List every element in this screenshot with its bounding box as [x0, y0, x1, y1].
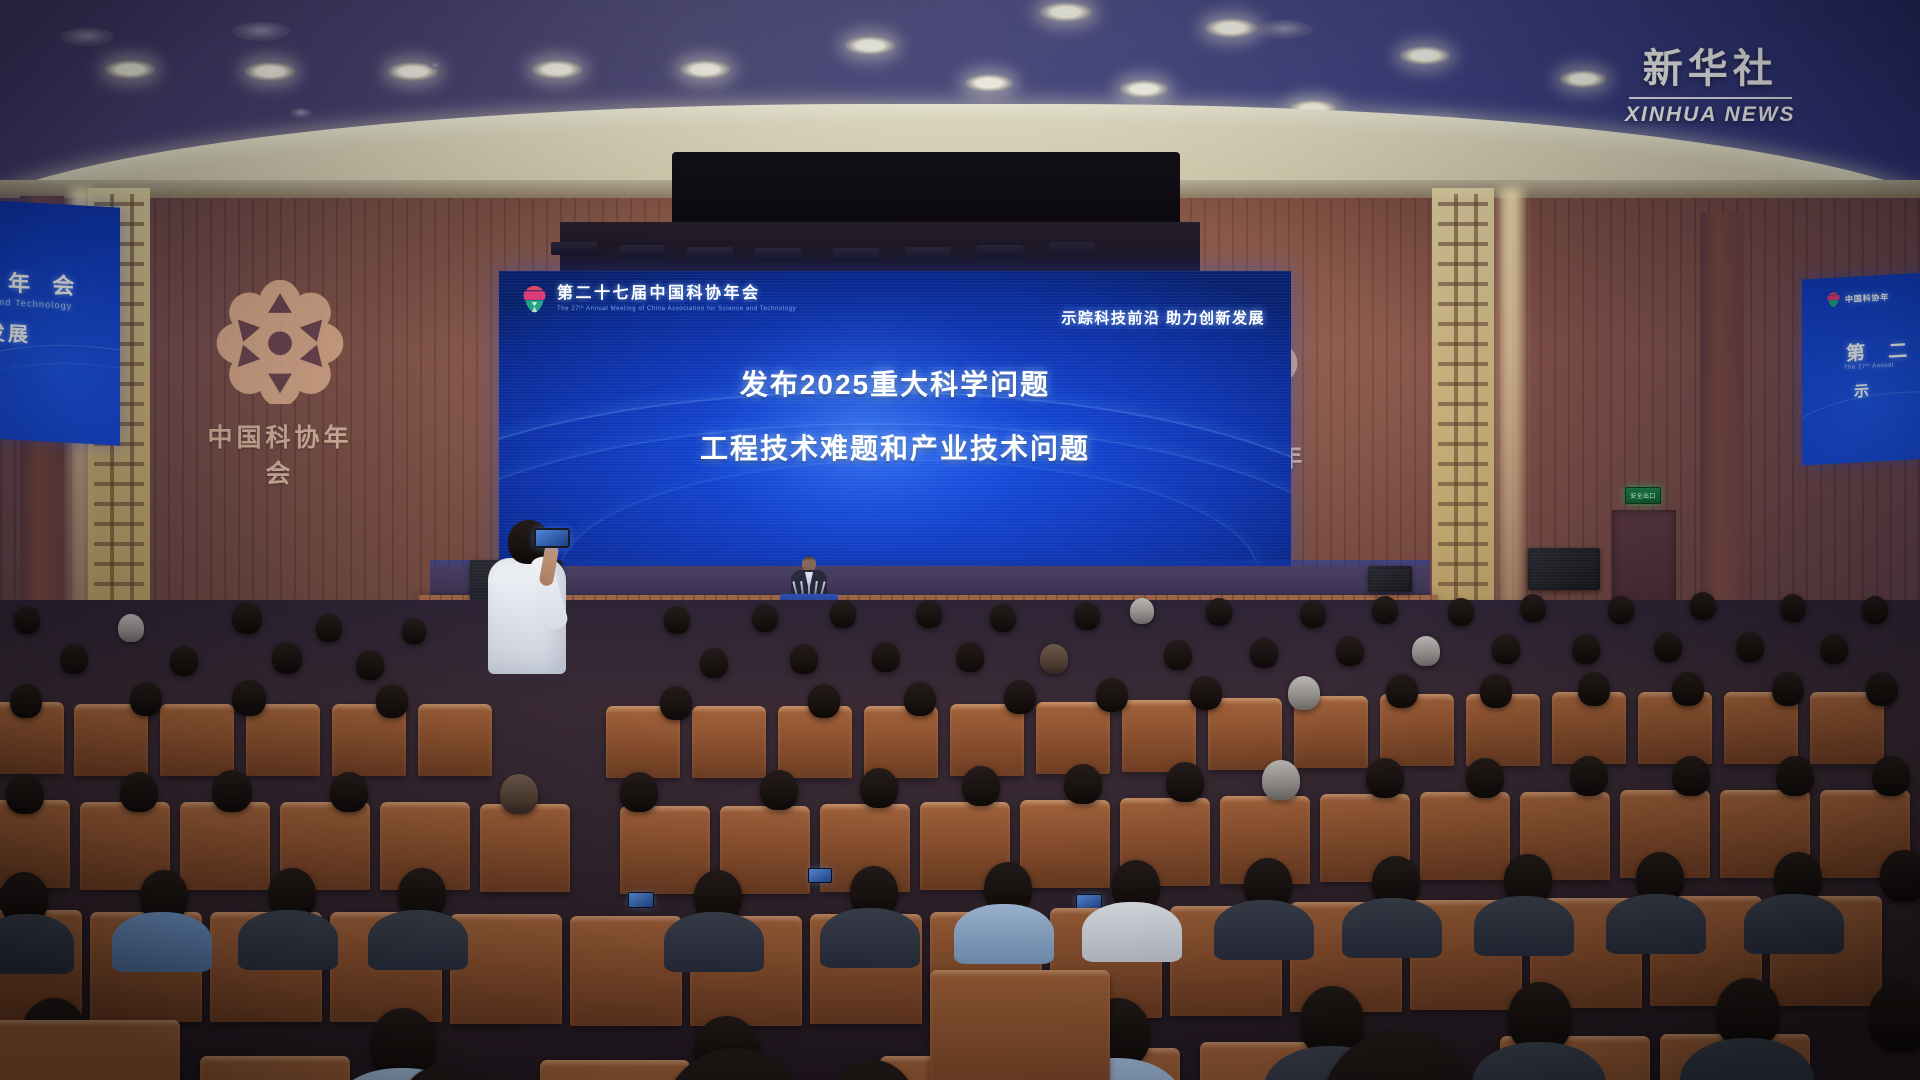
watermark-divider	[1629, 97, 1792, 99]
ceiling-light-10	[845, 36, 895, 55]
ceiling-light-3	[1400, 46, 1450, 65]
wall-pilaster-right	[1700, 212, 1744, 652]
stage-monitor-right	[1528, 548, 1600, 590]
audience-head	[1064, 764, 1102, 804]
theater-seat	[1020, 800, 1110, 888]
audience-head	[1690, 592, 1716, 620]
audience-head	[1608, 596, 1634, 624]
theater-seat	[74, 704, 148, 776]
ceiling-light-1	[1040, 2, 1092, 22]
audience-head	[376, 684, 408, 718]
raised-smartphone	[808, 868, 832, 883]
ceiling-light-5	[105, 60, 155, 79]
audience-head	[330, 772, 368, 812]
audience-head	[1868, 982, 1920, 1052]
audience-head	[1492, 634, 1520, 664]
right-side-led-screen[interactable]: 中国科协年 第 二 The 27ᵗʰ Annual 示	[1802, 272, 1920, 465]
audience-head	[10, 684, 42, 718]
audience-shoulders	[112, 912, 212, 972]
audience-head	[1206, 598, 1232, 626]
audience-head	[118, 614, 144, 642]
audience-head	[990, 604, 1016, 632]
audience-shoulders	[664, 912, 764, 972]
audience-head	[700, 648, 728, 678]
audience-head	[1130, 598, 1154, 624]
proscenium-dark-band	[672, 152, 1180, 230]
audience-head	[1872, 756, 1910, 796]
audience-head	[1672, 756, 1710, 796]
truss-fixture	[833, 248, 879, 261]
audience-shoulders	[1606, 894, 1706, 954]
audience-head	[232, 602, 262, 634]
audience-head	[1466, 758, 1504, 798]
audience-head	[1300, 600, 1326, 628]
audience-head	[808, 684, 840, 718]
audience-head	[120, 772, 158, 812]
stage-monitor-right-2	[1368, 566, 1412, 592]
screen-header-title-en: The 27ᵗʰ Annual Meeting of China Associa…	[557, 306, 796, 312]
screen-title-line-1: 发布2025重大科学问题	[499, 363, 1291, 403]
exit-sign: 安全出口	[1625, 487, 1661, 504]
theater-seat	[1208, 698, 1282, 770]
audience-head	[1040, 644, 1068, 674]
audience-head	[1862, 596, 1888, 624]
main-led-screen[interactable]: 第二十七届中国科协年会 The 27ᵗʰ Annual Meeting of C…	[499, 271, 1291, 569]
audience-head	[752, 604, 778, 632]
audience-head	[212, 770, 252, 812]
audience-head	[232, 680, 266, 716]
photographer-smartphone	[534, 528, 570, 548]
ceiling-light-8	[532, 60, 582, 79]
ceiling-light-dim-3	[1255, 20, 1313, 39]
audience-head	[760, 770, 798, 810]
theater-seat	[692, 706, 766, 778]
audience-head	[1288, 676, 1320, 710]
audience-head	[170, 646, 198, 676]
watermark-chinese-text: 新华社	[1625, 36, 1796, 94]
ceiling-light-dim-1	[60, 28, 114, 46]
truss-fixture	[687, 247, 733, 260]
left-screen-swoosh	[0, 356, 120, 445]
ceiling-light-11	[965, 74, 1013, 92]
audience-head	[1776, 756, 1814, 796]
audience-head	[500, 774, 538, 814]
screen-title-line-2: 工程技术难题和产业技术问题	[499, 427, 1291, 467]
audience-head	[1480, 674, 1512, 708]
raised-smartphone	[628, 892, 654, 908]
audience-head	[962, 766, 1000, 806]
audience-head	[1386, 674, 1418, 708]
audience-head	[1570, 756, 1608, 796]
ceiling-light-2	[1205, 18, 1257, 38]
theater-seat	[480, 804, 570, 892]
audience-head	[1250, 638, 1278, 668]
theater-seat	[1036, 702, 1110, 774]
cast-flower-logo-icon	[521, 285, 548, 314]
audience-head	[860, 768, 898, 808]
standing-photographer	[480, 520, 576, 690]
audience-head	[1520, 594, 1546, 622]
audience-head	[14, 606, 40, 634]
audience-head	[1654, 632, 1682, 662]
theater-seat	[950, 704, 1024, 776]
left-screen-line-1: 协 年 会	[0, 263, 82, 302]
audience-head	[402, 618, 426, 644]
screen-header-title-cn: 第二十七届中国科协年会	[557, 286, 796, 303]
truss-fixture	[755, 248, 801, 261]
watermark-english-text: XINHUA NEWS	[1625, 103, 1796, 127]
audience-head	[272, 642, 302, 674]
audience-head	[1780, 594, 1806, 622]
theater-seat	[418, 704, 492, 776]
theater-seat	[1638, 692, 1712, 764]
ceiling-light-6	[245, 62, 295, 81]
audience-head	[1736, 632, 1764, 662]
ceiling-light-dim-4	[290, 108, 312, 118]
audience-head	[1772, 672, 1804, 706]
theater-seat	[450, 914, 562, 1024]
theater-seat	[180, 802, 270, 890]
truss-fixture	[905, 247, 951, 260]
audience-head	[1412, 636, 1440, 666]
audience-head	[872, 642, 900, 672]
audience-head	[790, 644, 818, 674]
audience-head	[1578, 672, 1610, 706]
theater-seat	[620, 806, 710, 894]
audience-shoulders	[0, 914, 74, 974]
audience-shoulders	[1214, 900, 1314, 960]
audience-head	[356, 650, 384, 680]
audience-shoulders	[1342, 898, 1442, 958]
audience-head	[1074, 602, 1100, 630]
theater-seat	[160, 704, 234, 776]
theater-seat	[778, 706, 852, 778]
audience-head	[1190, 676, 1222, 710]
wall-emblem-left: 中国科协年会	[204, 272, 356, 490]
audience-head	[1164, 640, 1192, 670]
main-led-screen-surface: 第二十七届中国科协年会 The 27ᵗʰ Annual Meeting of C…	[499, 271, 1291, 569]
screen-header: 第二十七届中国科协年会 The 27ᵗʰ Annual Meeting of C…	[521, 285, 796, 314]
audience-shoulders	[1744, 894, 1844, 954]
audience-shoulders	[1082, 902, 1182, 962]
audience-head	[1262, 760, 1300, 800]
theater-seat	[864, 706, 938, 778]
audience-head	[1372, 596, 1398, 624]
screen-header-texts: 第二十七届中国科协年会 The 27ᵗʰ Annual Meeting of C…	[557, 286, 796, 312]
screen-main-title: 发布2025重大科学问题 工程技术难题和产业技术问题	[499, 363, 1291, 467]
audience-head	[1096, 678, 1128, 712]
audience-head	[1336, 636, 1364, 666]
audience-shoulders	[1474, 896, 1574, 956]
lighting-truss	[545, 230, 1125, 272]
left-side-led-screen[interactable]: 协 年 会 cience and Technology 新发展	[0, 200, 120, 445]
exit-sign-label: 安全出口	[1630, 491, 1656, 500]
screen-slogan: 示踪科技前沿 助力创新发展	[1061, 307, 1265, 328]
audience-head	[1448, 598, 1474, 626]
audience-head	[904, 682, 936, 716]
audience-head	[1866, 672, 1898, 706]
audience-head	[956, 642, 984, 672]
audience-head	[830, 600, 856, 628]
truss-fixture	[977, 245, 1023, 258]
truss-fixture	[551, 242, 597, 255]
right-screen-line-3: 示	[1854, 380, 1872, 402]
audience-shoulders	[954, 904, 1054, 964]
xinhua-news-watermark: 新华社 XINHUA NEWS	[1625, 36, 1796, 127]
wall-emblem-label: 中国科协年会	[204, 418, 356, 490]
ceiling-light-4	[1560, 70, 1606, 88]
audience-head	[6, 774, 44, 814]
cast-emblem-icon	[214, 272, 346, 404]
ceiling-light-12	[1120, 80, 1168, 98]
truss-fixture	[619, 245, 665, 258]
right-screen-header-label: 中国科协年	[1845, 291, 1889, 304]
audience-head	[1820, 634, 1848, 664]
ceiling-light-dim-5	[428, 62, 442, 69]
theater-seat	[540, 1060, 690, 1080]
auditorium-scene: 中国科协年会 中国科协年会	[0, 0, 1920, 1080]
audience-head	[660, 686, 692, 720]
ceiling-light-dim-2	[232, 22, 290, 41]
audience-head	[664, 606, 690, 634]
audience-head	[1366, 758, 1404, 798]
right-screen-header: 中国科协年	[1826, 289, 1889, 309]
truss-fixture	[1049, 242, 1095, 255]
foreground-theater-seat	[0, 1020, 180, 1080]
audience-head	[130, 682, 162, 716]
audience-head	[316, 614, 342, 642]
audience-seating-area	[0, 600, 1920, 1080]
audience-head	[1572, 634, 1600, 664]
audience-shoulders	[238, 910, 338, 970]
audience-head	[1004, 680, 1036, 714]
audience-head	[916, 600, 942, 628]
audience-shoulders	[368, 910, 468, 970]
right-screen-line-1: 第 二	[1846, 335, 1916, 366]
audience-shoulders	[820, 908, 920, 968]
cast-flower-logo-icon	[1826, 291, 1841, 308]
audience-head	[1880, 850, 1920, 902]
theater-seat	[1420, 792, 1510, 880]
audience-head	[620, 772, 658, 812]
audience-head	[60, 644, 88, 674]
ceiling-light-9	[680, 60, 730, 79]
left-screen-line-3: 新发展	[0, 315, 31, 348]
audience-head	[1166, 762, 1204, 802]
right-screen-line-2: The 27ᵗʰ Annual	[1844, 362, 1894, 371]
foreground-theater-seat	[930, 970, 1110, 1080]
theater-seat	[200, 1056, 350, 1080]
audience-head	[1672, 672, 1704, 706]
